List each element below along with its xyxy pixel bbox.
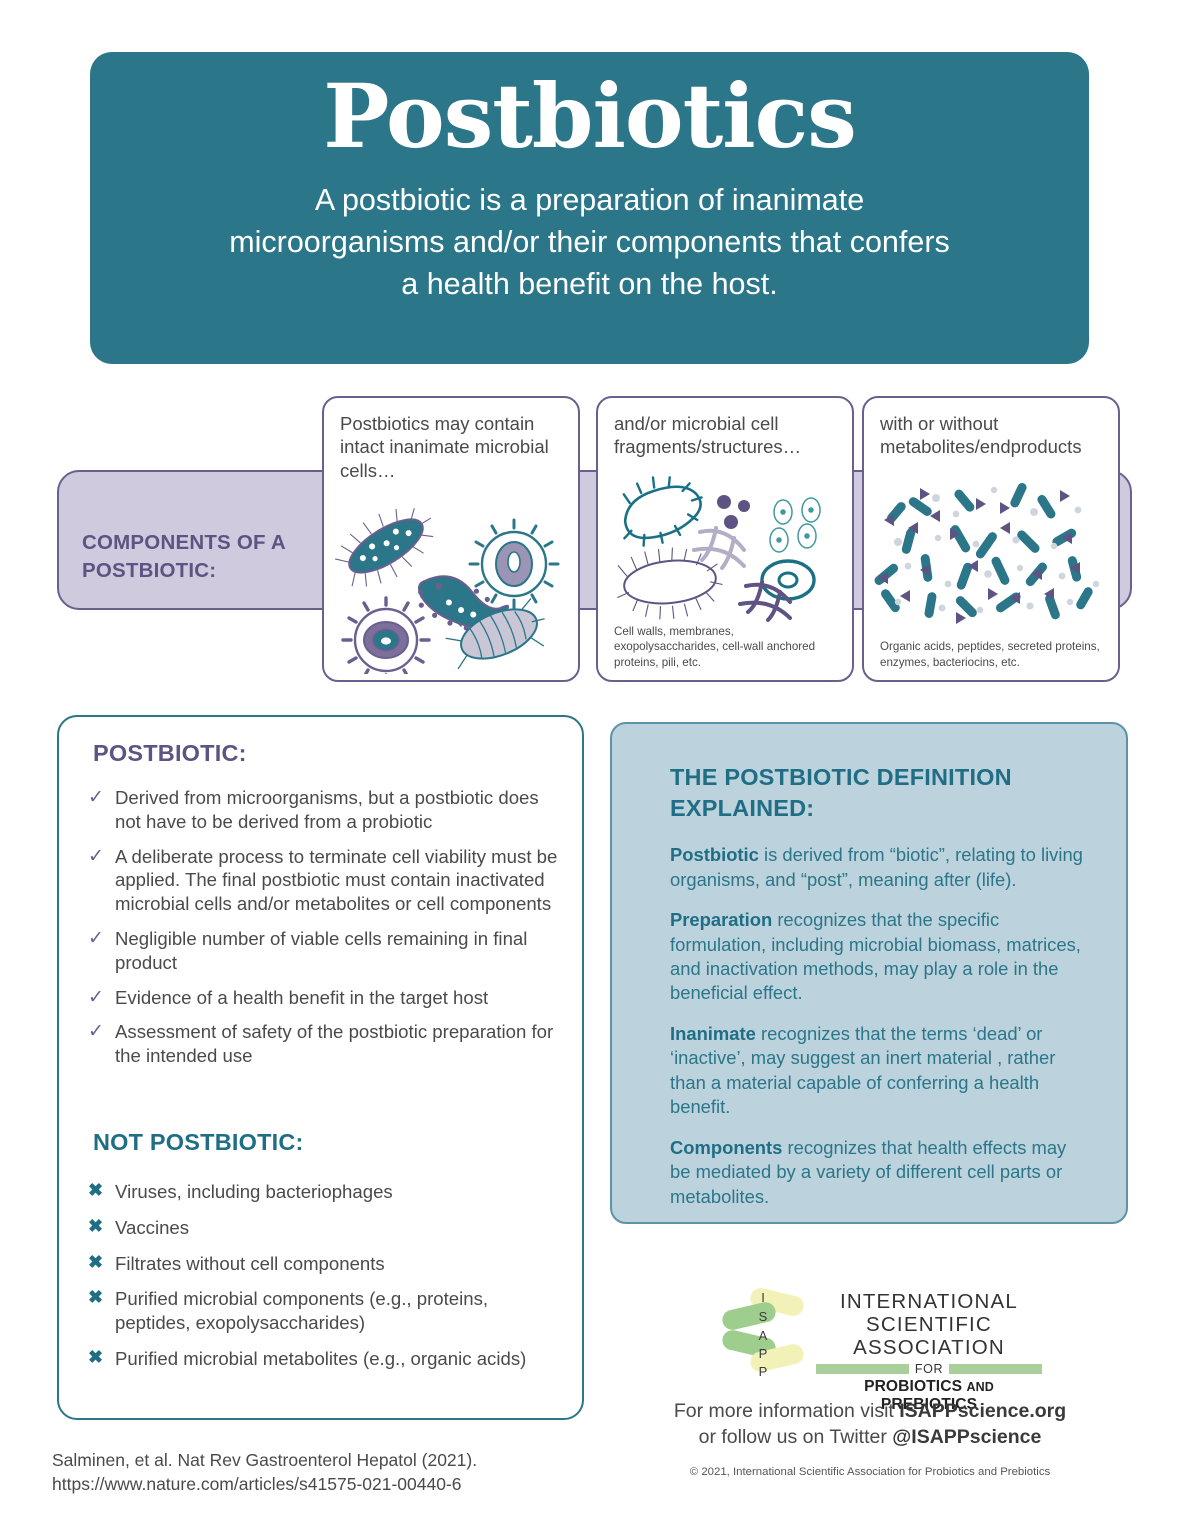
definition-paragraph: Components recognizes that health effect… [670,1136,1084,1209]
postbiotic-list: ✓ Derived from microorganisms, but a pos… [88,786,558,1079]
definition-term: Postbiotic [670,844,759,865]
visit-prefix: For more information visit [674,1400,899,1422]
list-item-label: Viruses, including bacteriophages [115,1180,393,1204]
card-caption: Cell walls, membranes, exopolysaccharide… [614,624,839,670]
list-item: ✖ Purified microbial components (e.g., p… [88,1287,558,1335]
list-item-label: Purified microbial components (e.g., pro… [115,1287,558,1335]
list-item-label: Evidence of a health benefit in the targ… [115,986,488,1010]
cross-icon: ✖ [88,1180,115,1204]
list-item: ✓ Derived from microorganisms, but a pos… [88,786,558,834]
list-item-label: Filtrates without cell components [115,1252,385,1276]
definition-paragraph: Inanimate recognizes that the terms ‘dea… [670,1022,1084,1120]
list-item: ✓ Evidence of a health benefit in the ta… [88,986,558,1010]
check-icon: ✓ [88,845,115,916]
component-card-metabolites: with or without metabolites/endproducts [862,396,1120,682]
component-card-cell-fragments: and/or microbial cell fragments/structur… [596,396,854,682]
citation: Salminen, et al. Nat Rev Gastroenterol H… [52,1448,592,1496]
list-item: ✖ Filtrates without cell components [88,1252,558,1276]
components-band-label: COMPONENTS OF A POSTBIOTIC: [82,529,332,586]
infographic-page: Postbiotics A postbiotic is a preparatio… [0,0,1187,1536]
list-item-label: A deliberate process to terminate cell v… [115,845,558,916]
component-card-intact-cells: Postbiotics may contain intact inanimate… [322,396,580,682]
definition-term: Preparation [670,909,772,930]
definition-term: Inanimate [670,1023,756,1044]
list-item: ✓ Assessment of safety of the postbiotic… [88,1020,558,1068]
list-item-label: Negligible number of viable cells remain… [115,927,558,975]
logo-for-row: FOR [816,1362,1042,1376]
copyright-notice: © 2021, International Scientific Associa… [640,1466,1100,1478]
list-item: ✖ Viruses, including bacteriophages [88,1180,558,1204]
twitter-handle-link[interactable]: @ISAPPscience [892,1426,1041,1448]
cross-icon: ✖ [88,1287,115,1335]
logo-bar-right [949,1364,1042,1374]
list-item: ✓ Negligible number of viable cells rema… [88,927,558,975]
cross-icon: ✖ [88,1347,115,1371]
isapp-logo: I S A P P INTERNATIONAL SCIENTIFIC ASSOC… [722,1288,1042,1380]
cross-icon: ✖ [88,1252,115,1276]
not-postbiotic-list: ✖ Viruses, including bacteriophages ✖ Va… [88,1180,558,1383]
logo-letter: P [759,1346,768,1361]
definition-panel-title: THE POSTBIOTIC DEFINITION EXPLAINED: [670,762,1084,823]
isapp-zigzag-icon: I S A P P [722,1288,804,1380]
logo-probiotics: PROBIOTICS [864,1378,962,1395]
card-heading: and/or microbial cell fragments/structur… [614,412,836,459]
logo-line-1: INTERNATIONAL [816,1290,1042,1313]
logo-for-label: FOR [915,1362,943,1376]
page-title: Postbiotics [323,70,856,162]
definition-explained-panel: THE POSTBIOTIC DEFINITION EXPLAINED: Pos… [610,722,1128,1224]
logo-and: AND [967,1380,994,1394]
logo-letter: S [759,1309,768,1324]
cell-fragments-icon [598,474,854,634]
website-link[interactable]: ISAPPscience.org [899,1400,1066,1422]
logo-letter: I [761,1290,765,1305]
postbiotic-list-title: POSTBIOTIC: [93,740,247,767]
list-item: ✖ Vaccines [88,1216,558,1240]
citation-line-2[interactable]: https://www.nature.com/articles/s41575-0… [52,1472,592,1496]
list-item: ✓ A deliberate process to terminate cell… [88,845,558,916]
logo-letter: P [759,1364,768,1379]
logo-wordmark: INTERNATIONAL SCIENTIFIC ASSOCIATION FOR… [816,1290,1042,1414]
postbiotic-definition: A postbiotic is a preparation of inanima… [225,180,955,305]
definition-paragraph: Preparation recognizes that the specific… [670,908,1084,1006]
list-item-label: Assessment of safety of the postbiotic p… [115,1020,558,1068]
list-item-label: Vaccines [115,1216,189,1240]
list-item-label: Derived from microorganisms, but a postb… [115,786,558,834]
list-item-label: Purified microbial metabolites (e.g., or… [115,1347,526,1371]
check-icon: ✓ [88,786,115,834]
not-postbiotic-list-title: NOT POSTBIOTIC: [93,1129,304,1156]
metabolites-scatter-icon [864,476,1120,634]
logo-line-2: SCIENTIFIC ASSOCIATION [816,1313,1042,1359]
card-heading: Postbiotics may contain intact inanimate… [340,412,562,482]
logo-letter: A [759,1328,768,1343]
contact-footer: For more information visit ISAPPscience.… [640,1398,1100,1451]
intact-microbial-cells-icon [324,494,580,674]
twitter-prefix: or follow us on Twitter [699,1426,893,1448]
cross-icon: ✖ [88,1216,115,1240]
card-caption: Organic acids, peptides, secreted protei… [880,639,1105,670]
list-item: ✖ Purified microbial metabolites (e.g., … [88,1347,558,1371]
definition-term: Components [670,1137,782,1158]
check-icon: ✓ [88,1020,115,1068]
check-icon: ✓ [88,986,115,1010]
logo-bar-left [816,1364,909,1374]
header-banner: Postbiotics A postbiotic is a preparatio… [90,52,1089,364]
definition-paragraph: Postbiotic is derived from “biotic”, rel… [670,843,1084,892]
citation-line-1: Salminen, et al. Nat Rev Gastroenterol H… [52,1448,592,1472]
check-icon: ✓ [88,927,115,975]
card-heading: with or without metabolites/endproducts [880,412,1102,459]
